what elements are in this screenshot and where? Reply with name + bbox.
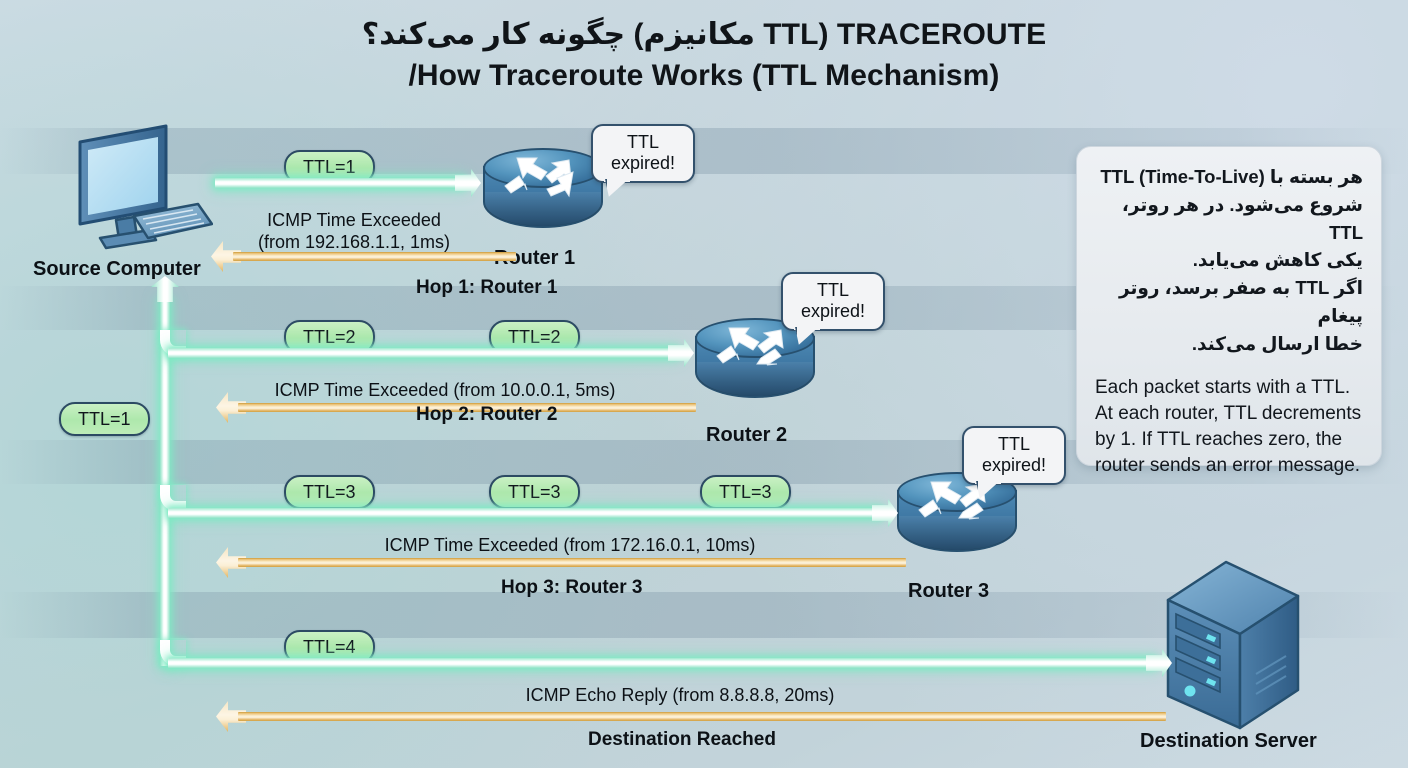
- icmp-label-hop2: ICMP Time Exceeded (from 10.0.0.1, 5ms): [185, 380, 705, 402]
- ttl-badge-hop3-2: TTL=3: [700, 475, 791, 509]
- forward-arrow-hop2: [168, 348, 694, 358]
- icmp-line-1: ICMP Time Exceeded: [216, 210, 492, 232]
- title-line-en: /How Traceroute Works (TTL Mechanism): [0, 55, 1408, 96]
- info-text-fa: هر بسته با TTL (Time-To-Live) شروع می‌شو…: [1095, 163, 1363, 357]
- forward-arrow-hop3: [168, 508, 898, 518]
- forward-arrow-hop1: [215, 178, 481, 188]
- page-title: چگونه کار می‌کند؟ (مکانیزم TTL) TRACEROU…: [0, 14, 1408, 97]
- destination-server-label: Destination Server: [1140, 730, 1317, 753]
- router-3-ttl-expired-bubble: TTL expired!: [962, 426, 1066, 485]
- bubble-line-1: TTL: [605, 132, 681, 153]
- info-fa-line-4: اگر TTL به صفر برسد، روتر پیغام: [1095, 274, 1363, 330]
- icmp-line-1: ICMP Time Exceeded (from 172.16.0.1, 10m…: [270, 535, 870, 557]
- forward-arrow-hop4: [168, 658, 1172, 668]
- source-computer-icon: [38, 120, 213, 255]
- router-1-ttl-expired-bubble: TTL expired!: [591, 124, 695, 183]
- icmp-line-1: ICMP Time Exceeded (from 10.0.0.1, 5ms): [185, 380, 705, 402]
- icmp-line-1: ICMP Echo Reply (from 8.8.8.8, 20ms): [380, 685, 980, 707]
- info-fa-line-3: یکی کاهش می‌یابد.: [1095, 246, 1363, 274]
- bubble-line-2: expired!: [605, 153, 681, 174]
- title-line-fa: چگونه کار می‌کند؟ (مکانیزم TTL) TRACEROU…: [0, 14, 1408, 55]
- return-arrow-hop1: [211, 252, 516, 261]
- bubble-line-1: TTL: [976, 434, 1052, 455]
- ttl-badge-hop3-1: TTL=3: [489, 475, 580, 509]
- icmp-label-hop4: ICMP Echo Reply (from 8.8.8.8, 20ms): [380, 685, 980, 707]
- arrowhead-icon: [872, 499, 898, 527]
- destination-server-icon: [1160, 556, 1306, 736]
- icmp-label-hop1: ICMP Time Exceeded (from 192.168.1.1, 1m…: [216, 210, 492, 254]
- info-panel: هر بسته با TTL (Time-To-Live) شروع می‌شو…: [1076, 146, 1382, 466]
- bubble-line-2: expired!: [795, 301, 871, 322]
- hop-label-hop4: Destination Reached: [588, 729, 776, 751]
- arrowhead-icon: [668, 339, 694, 367]
- arrowhead-icon: [455, 169, 481, 197]
- router-3-icon: [897, 472, 1017, 564]
- info-fa-line-1: هر بسته با TTL (Time-To-Live): [1095, 163, 1363, 191]
- icmp-label-hop3: ICMP Time Exceeded (from 172.16.0.1, 10m…: [270, 535, 870, 557]
- info-text-en: Each packet starts with a TTL. At each r…: [1095, 375, 1363, 478]
- icmp-line-2: (from 192.168.1.1, 1ms): [216, 232, 492, 254]
- hop-label-hop3: Hop 3: Router 3: [501, 577, 642, 599]
- diagram-canvas: چگونه کار می‌کند؟ (مکانیزم TTL) TRACEROU…: [0, 0, 1408, 768]
- ttl-badge-hop3-0: TTL=3: [284, 475, 375, 509]
- return-arrow-hop4: [216, 712, 1166, 721]
- router-2-label: Router 2: [706, 424, 787, 447]
- source-computer-label: Source Computer: [33, 258, 201, 281]
- info-fa-line-2: شروع می‌شود. در هر روتر، TTL: [1095, 191, 1363, 247]
- bubble-line-2: expired!: [976, 455, 1052, 476]
- standalone-ttl-badge: TTL=1: [59, 402, 150, 436]
- hop-label-hop2: Hop 2: Router 2: [416, 404, 557, 426]
- router-3-label: Router 3: [908, 580, 989, 603]
- hop-label-hop1: Hop 1: Router 1: [416, 277, 557, 299]
- return-arrow-hop3: [216, 558, 906, 567]
- router-1-icon: [483, 148, 603, 240]
- router-2-ttl-expired-bubble: TTL expired!: [781, 272, 885, 331]
- info-fa-line-5: خطا ارسال می‌کند.: [1095, 330, 1363, 358]
- bubble-line-1: TTL: [795, 280, 871, 301]
